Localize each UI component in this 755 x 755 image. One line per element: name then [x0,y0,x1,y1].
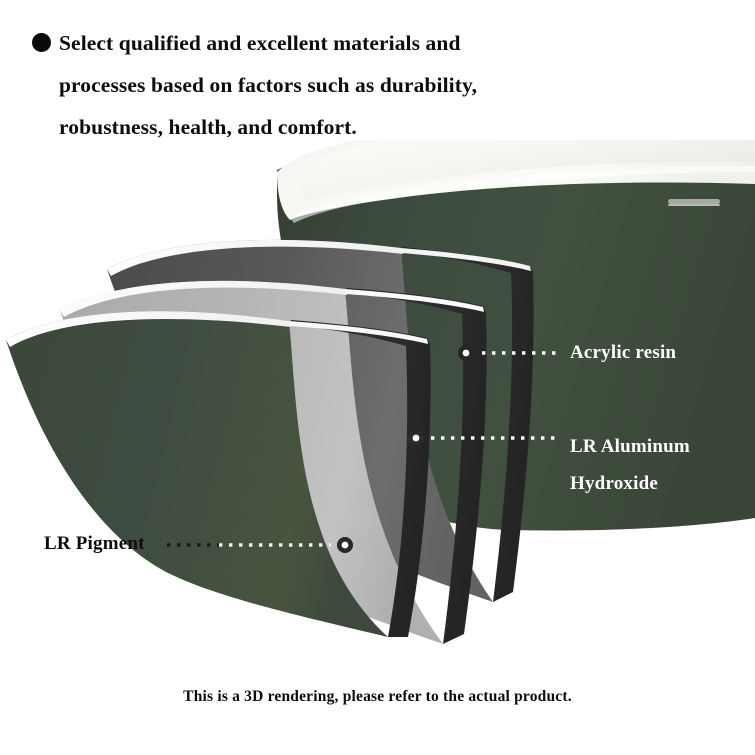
callout-label-lr-pigment: LR Pigment [44,533,145,555]
exploded-layer-diagram [0,140,755,670]
footnote-text: This is a 3D rendering, please refer to … [0,688,755,706]
marker-acrylic-resin-inner [463,350,470,357]
overflow-slot-shadow [668,204,720,206]
callout-label-lr-aluminum-hydroxide-line1: LR Aluminum [570,436,690,457]
heading-block: Select qualified and excellent materials… [0,0,755,150]
callout-label-lr-aluminum-hydroxide-line2: Hydroxide [570,465,690,502]
marker-lr-pigment-inner [342,542,349,549]
heading-line-2: processes based on factors such as durab… [59,64,529,106]
overflow-slot-icon [668,199,720,204]
material-layers-infographic: Select qualified and excellent materials… [0,0,755,755]
heading-line-1: Select qualified and excellent materials… [59,22,529,64]
bullet-point-icon [32,33,51,52]
marker-lr-aluminum-hydroxide-inner [413,435,420,442]
heading-text: Select qualified and excellent materials… [59,22,529,148]
callout-label-acrylic-resin: Acrylic resin [570,342,676,364]
callout-label-lr-aluminum-hydroxide: LR Aluminum Hydroxide [570,428,690,502]
